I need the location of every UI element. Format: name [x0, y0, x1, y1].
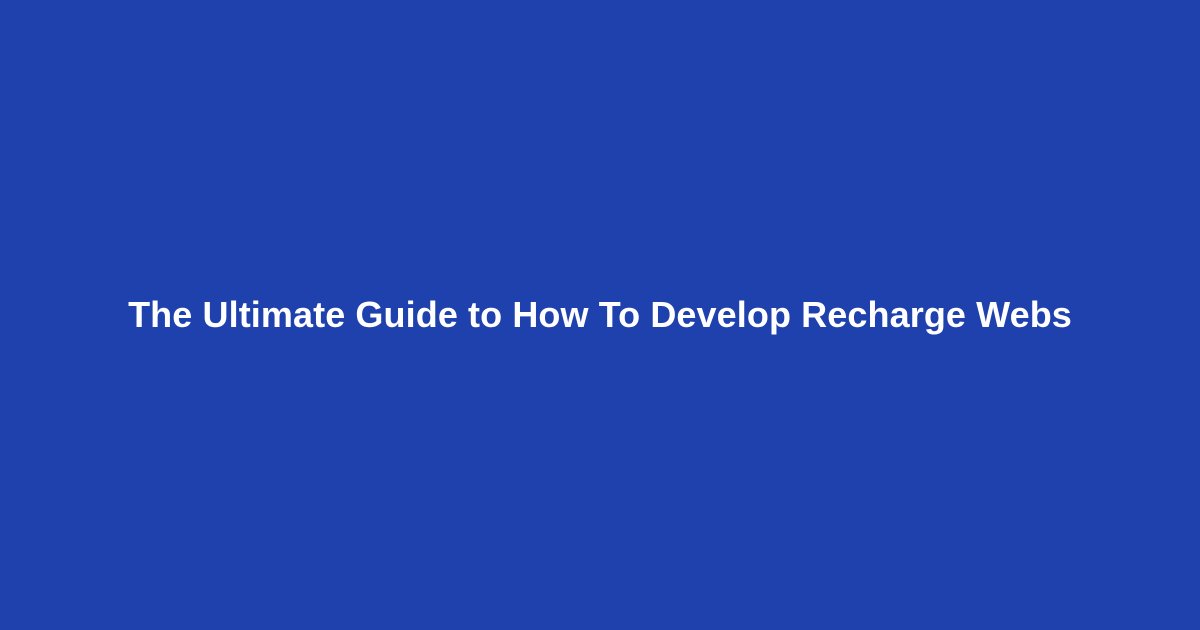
page-title: The Ultimate Guide to How To Develop Rec… — [128, 292, 1072, 339]
social-share-card: The Ultimate Guide to How To Develop Rec… — [0, 0, 1200, 630]
